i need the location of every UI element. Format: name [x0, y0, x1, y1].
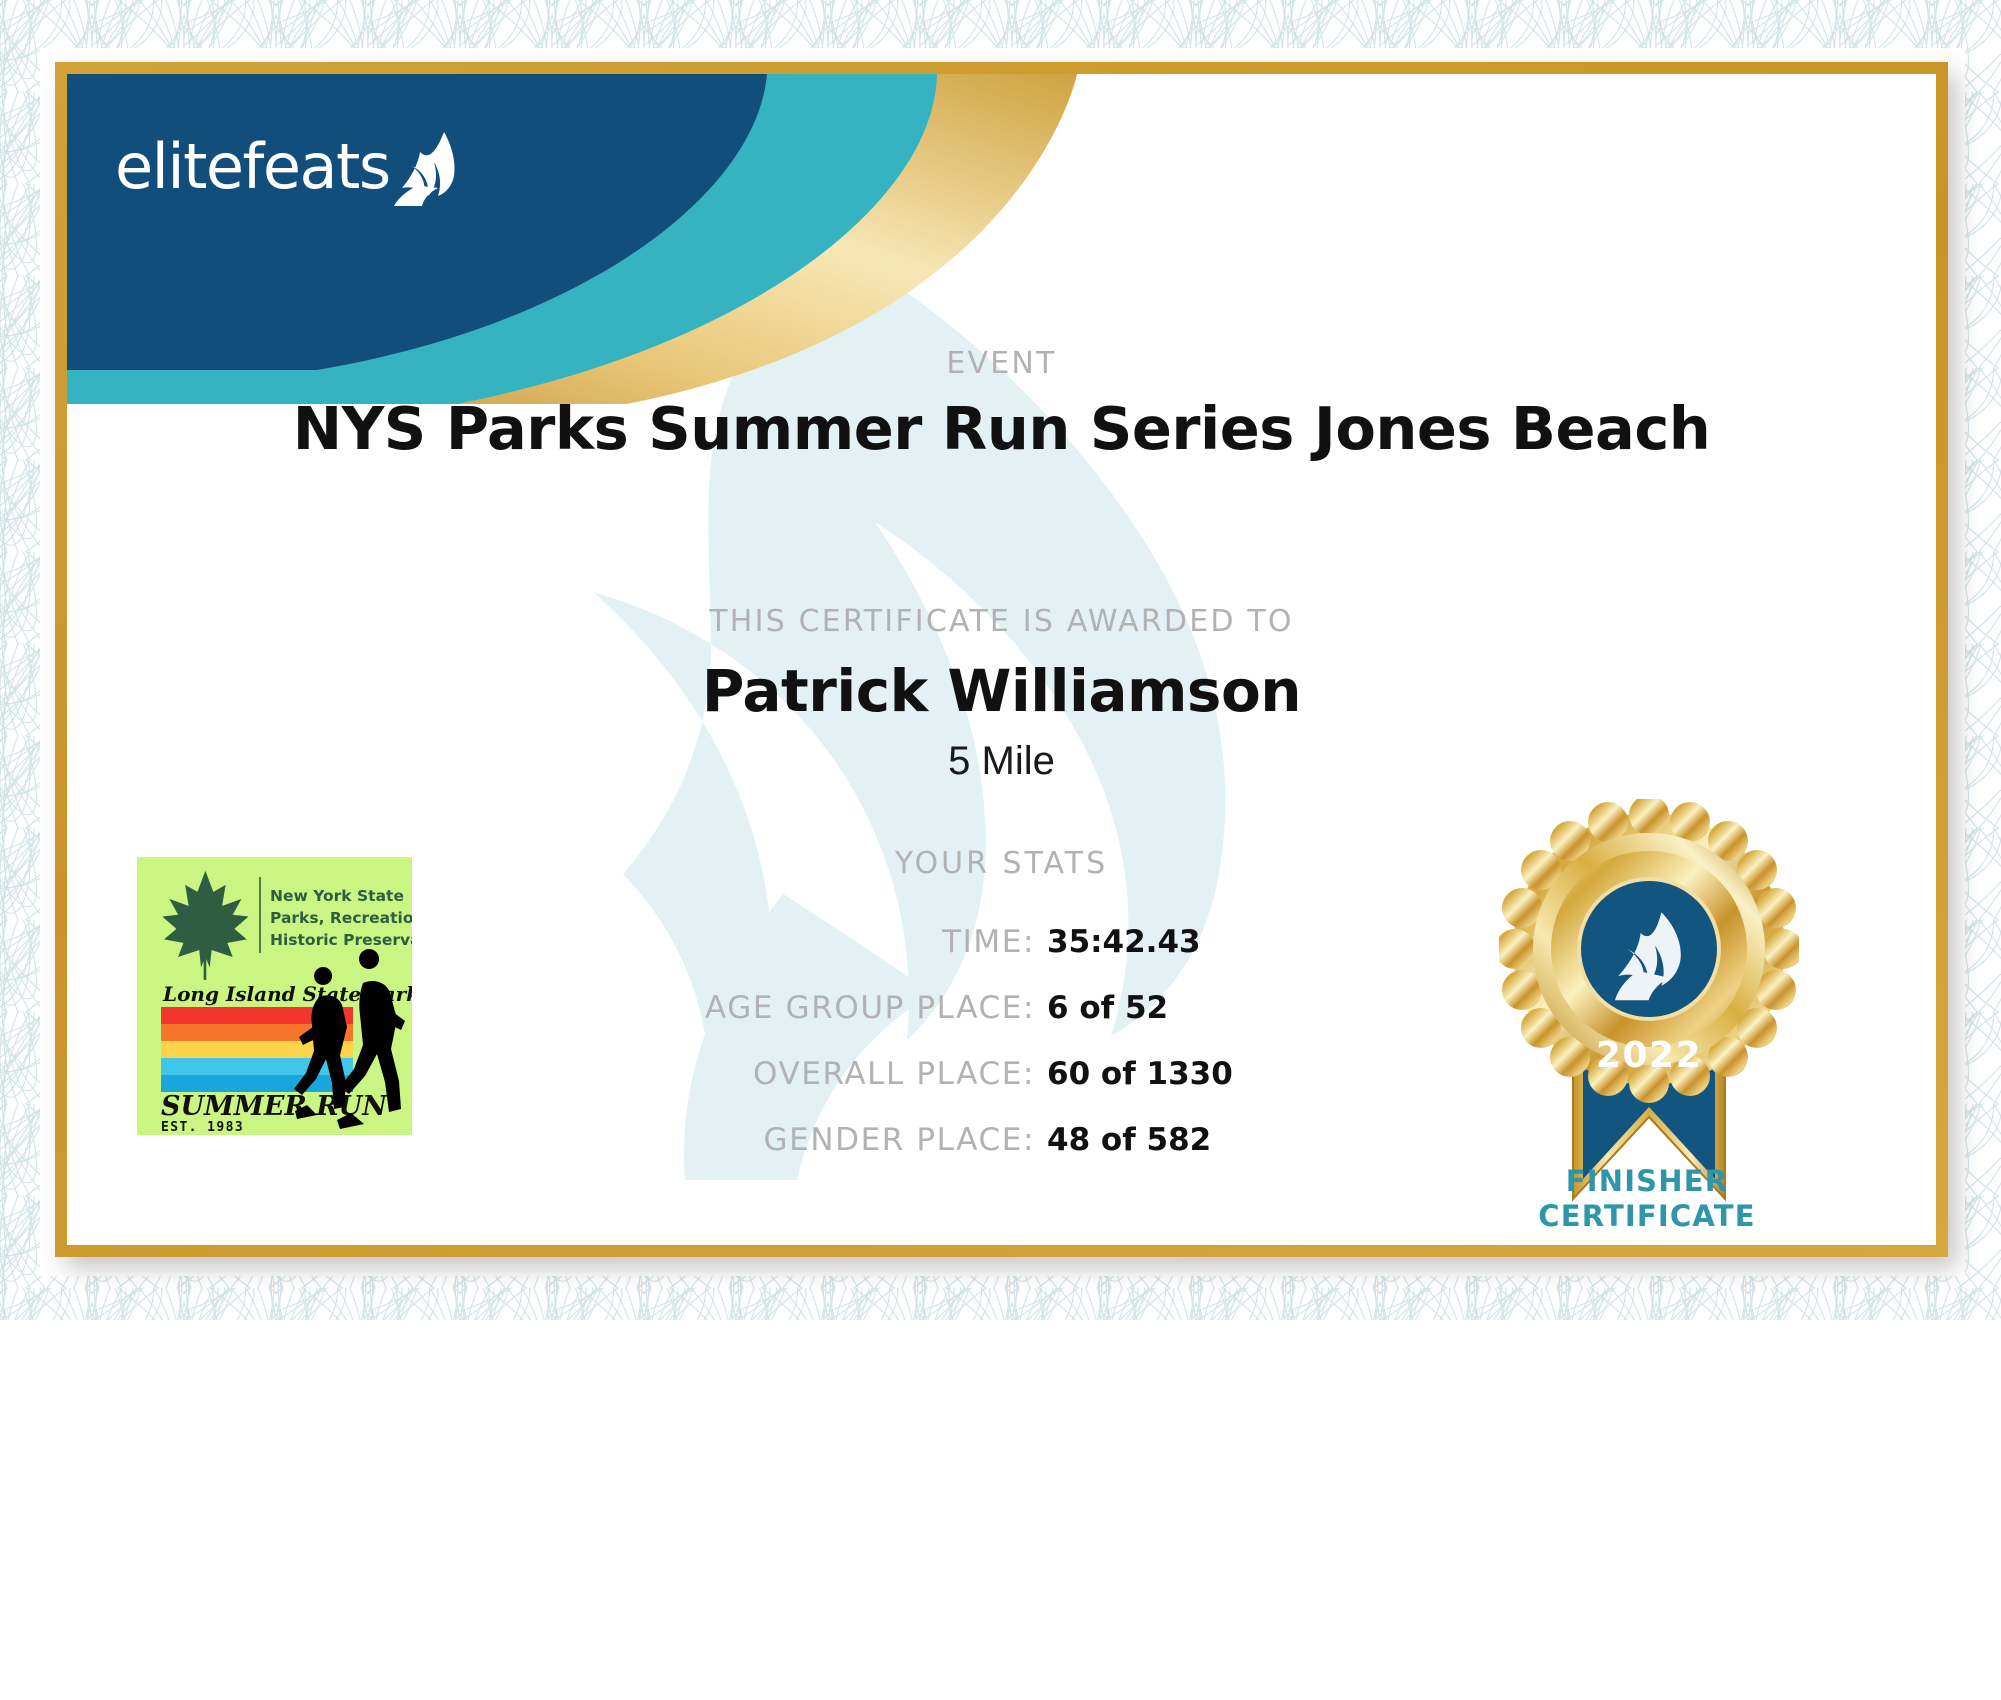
stat-value: 48 of 582	[1047, 1122, 1307, 1158]
awarded-to-label: THIS CERTIFICATE IS AWARDED TO	[67, 604, 1936, 639]
stat-label: AGE GROUP PLACE:	[705, 990, 1035, 1026]
badge-caption-line-2: CERTIFICATE	[1467, 1199, 1827, 1234]
agency-line-1: New York State	[270, 887, 404, 905]
recipient-name: Patrick Williamson	[67, 657, 1936, 725]
stats-list: TIME: 35:42.43 AGE GROUP PLACE: 6 of 52 …	[407, 924, 1307, 1188]
stat-value: 35:42.43	[1047, 924, 1307, 960]
certificate-frame: elitefeats EVENT NYS Parks Summer Run Se…	[55, 62, 1948, 1257]
race-distance: 5 Mile	[67, 739, 1936, 784]
stat-value: 60 of 1330	[1047, 1056, 1307, 1092]
certificate-page: elitefeats EVENT NYS Parks Summer Run Se…	[0, 0, 2001, 1700]
agency-line-3: Historic Preservation	[270, 931, 412, 949]
event-label: EVENT	[67, 346, 1936, 381]
badge-year: 2022	[1596, 1035, 1702, 1076]
badge-caption: FINISHER CERTIFICATE	[1467, 1164, 1827, 1235]
badge-caption-line-1: FINISHER	[1467, 1164, 1827, 1199]
stat-row-time: TIME: 35:42.43	[407, 924, 1307, 990]
stat-label: OVERALL PLACE:	[753, 1056, 1035, 1092]
event-title: NYS Parks Summer Run Series Jones Beach	[67, 394, 1936, 463]
established-year: EST. 1983	[161, 1120, 244, 1135]
agency-line-2: Parks, Recreation and	[270, 909, 412, 927]
stat-row-age-group-place: AGE GROUP PLACE: 6 of 52	[407, 990, 1307, 1056]
stat-value: 6 of 52	[1047, 990, 1307, 1026]
stat-label: GENDER PLACE:	[764, 1122, 1035, 1158]
stat-row-overall-place: OVERALL PLACE: 60 of 1330	[407, 1056, 1307, 1122]
nys-parks-summer-run-logo: New York State Parks, Recreation and His…	[137, 857, 412, 1135]
certificate-body: elitefeats EVENT NYS Parks Summer Run Se…	[67, 74, 1936, 1245]
stat-label: TIME:	[942, 924, 1035, 960]
stat-row-gender-place: GENDER PLACE: 48 of 582	[407, 1122, 1307, 1188]
